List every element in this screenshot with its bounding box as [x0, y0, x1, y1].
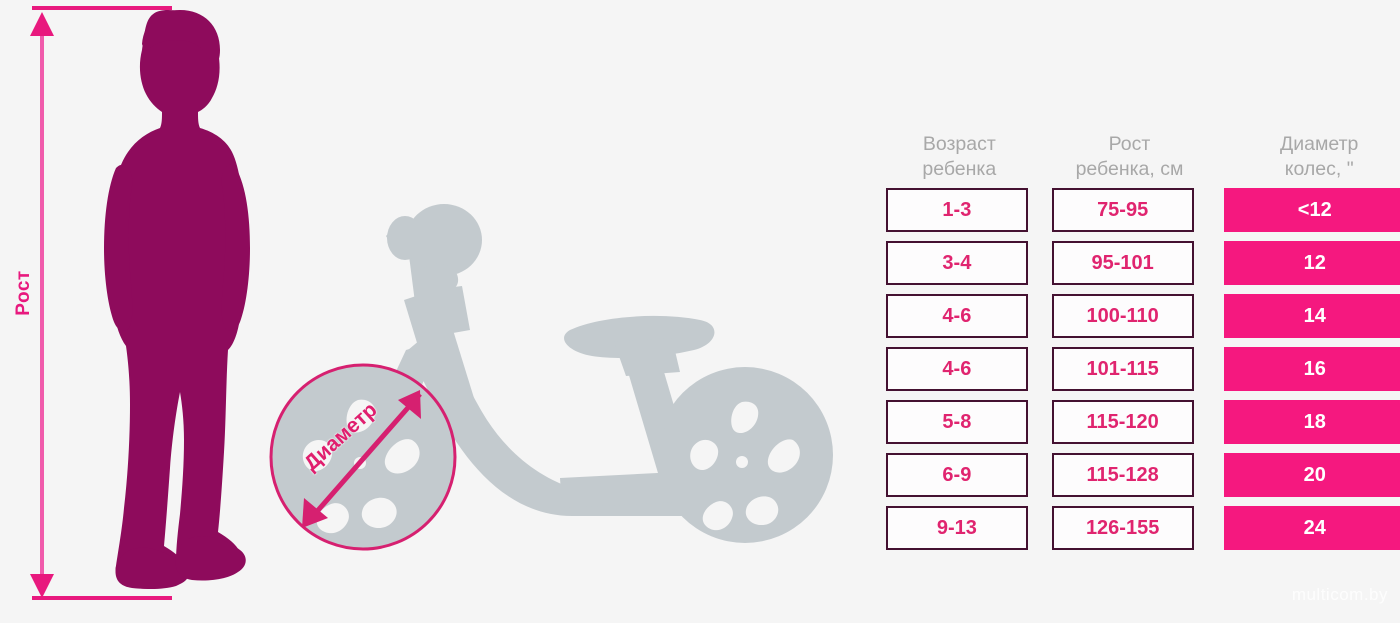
- cell-height: 126-155: [1052, 506, 1194, 550]
- watermark: multicom.by: [1292, 585, 1388, 605]
- illustration-area: Рост Диаметр: [0, 0, 870, 623]
- table-row: 6-9115-12820: [886, 453, 1400, 497]
- balance-bike-icon: [271, 204, 833, 549]
- column-header-age-line1: Возраст: [886, 132, 1033, 157]
- table-row: 5-8115-12018: [886, 400, 1400, 444]
- cell-wheel-diameter: 18: [1224, 400, 1400, 444]
- cell-age: 4-6: [886, 347, 1028, 391]
- cell-wheel-diameter: 24: [1224, 506, 1400, 550]
- cell-wheel-diameter: <12: [1224, 188, 1400, 232]
- column-header-height-line2: ребенка, см: [1056, 157, 1203, 182]
- cell-height: 101-115: [1052, 347, 1194, 391]
- column-header-age-line2: ребенка: [886, 157, 1033, 182]
- cell-age: 6-9: [886, 453, 1028, 497]
- cell-height: 115-128: [1052, 453, 1194, 497]
- child-silhouette-icon: [104, 10, 250, 589]
- table-row: 3-495-10112: [886, 241, 1400, 285]
- cell-height: 95-101: [1052, 241, 1194, 285]
- cell-wheel-diameter: 12: [1224, 241, 1400, 285]
- table-row: 9-13126-15524: [886, 506, 1400, 550]
- size-chart-table: Возраст ребенка Рост ребенка, см Диаметр…: [886, 112, 1400, 559]
- cell-wheel-diameter: 20: [1224, 453, 1400, 497]
- cell-height: 100-110: [1052, 294, 1194, 338]
- cell-age: 1-3: [886, 188, 1028, 232]
- cell-wheel-diameter: 16: [1224, 347, 1400, 391]
- column-header-wheel-line2: колес, ": [1232, 157, 1400, 182]
- column-header-height-line1: Рост: [1056, 132, 1203, 157]
- table-row: 1-375-95<12: [886, 188, 1400, 232]
- cell-height: 115-120: [1052, 400, 1194, 444]
- cell-wheel-diameter: 14: [1224, 294, 1400, 338]
- cell-height: 75-95: [1052, 188, 1194, 232]
- column-header-wheel: Диаметр колес, ": [1232, 132, 1400, 188]
- column-header-age: Возраст ребенка: [886, 132, 1033, 188]
- column-header-height: Рост ребенка, см: [1056, 132, 1203, 188]
- cell-age: 4-6: [886, 294, 1028, 338]
- cell-age: 9-13: [886, 506, 1028, 550]
- table-header-row: Возраст ребенка Рост ребенка, см Диаметр…: [886, 112, 1400, 188]
- table-row: 4-6100-11014: [886, 294, 1400, 338]
- cell-age: 5-8: [886, 400, 1028, 444]
- infographic-canvas: Рост Диаметр Возраст ребенка Рост ребенк…: [0, 0, 1400, 623]
- table-body: 1-375-95<123-495-101124-6100-110144-6101…: [886, 188, 1400, 550]
- table-row: 4-6101-11516: [886, 347, 1400, 391]
- cell-age: 3-4: [886, 241, 1028, 285]
- header-spacer-2: [1203, 182, 1215, 188]
- header-spacer-1: [1033, 182, 1045, 188]
- column-header-wheel-line1: Диаметр: [1232, 132, 1400, 157]
